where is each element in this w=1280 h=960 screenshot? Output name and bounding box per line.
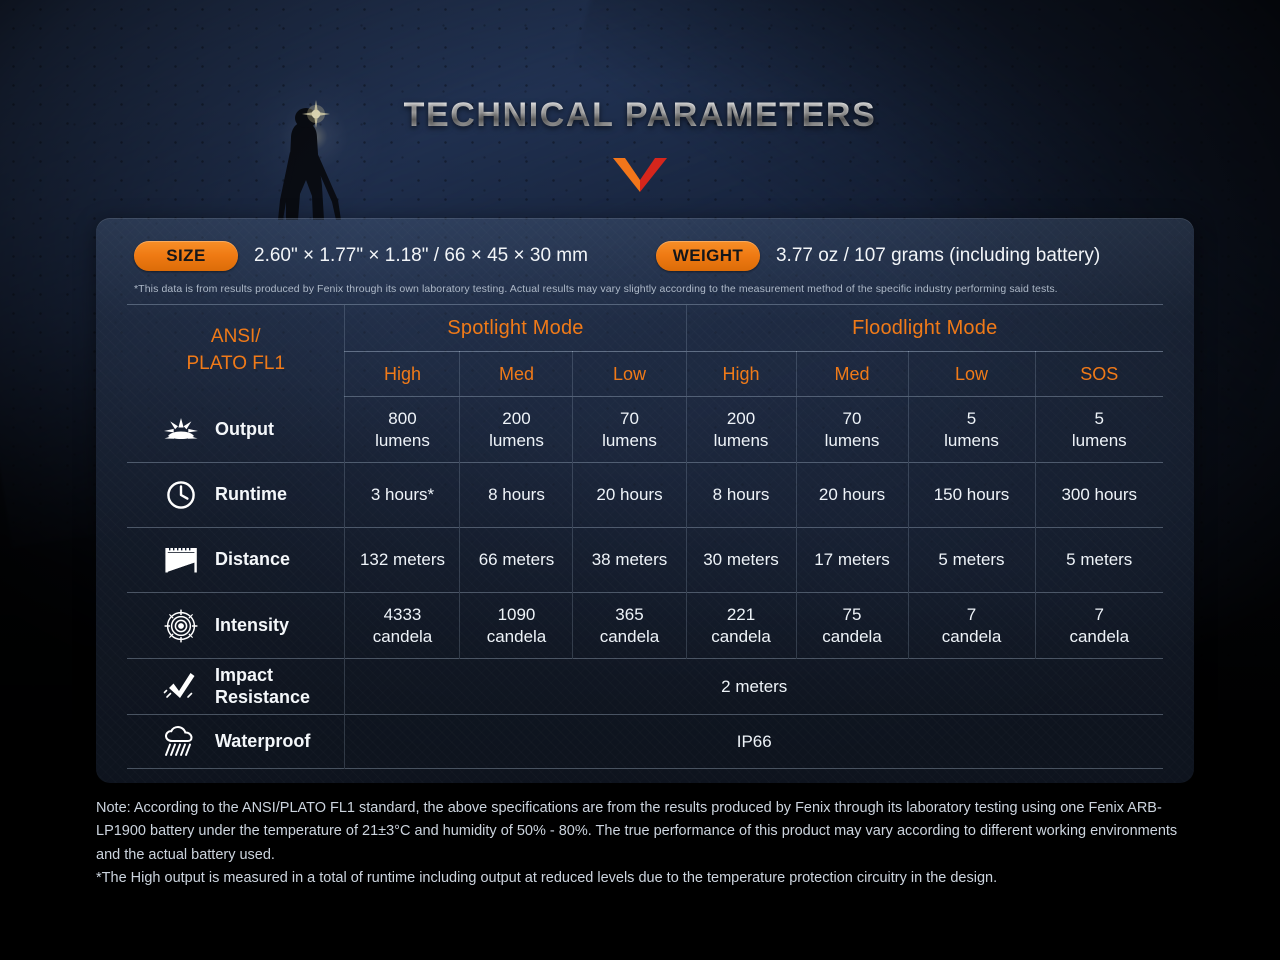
row-label-text: Output — [215, 419, 274, 440]
cell-distance-spot-high: 132 meters — [345, 528, 460, 593]
cell-intensity-spot-med: 1090 candela — [460, 593, 573, 659]
row-label-intensity: Intensity — [127, 593, 345, 659]
cell-intensity-spot-high: 4333 candela — [345, 593, 460, 659]
level-spot-low: Low — [573, 352, 686, 397]
sunburst-icon — [161, 412, 201, 446]
cell-runtime-spot-high: 3 hours* — [345, 463, 460, 528]
row-label-text: Distance — [215, 549, 290, 570]
table-row: Intensity 4333 candela 1090 candela 365 … — [127, 593, 1163, 659]
cell-output-flood-med: 70 lumens — [796, 397, 908, 463]
level-spot-med: Med — [460, 352, 573, 397]
target-icon — [161, 609, 201, 643]
table-header-mode-row: ANSI/ PLATO FL1 Spotlight Mode Floodligh… — [127, 305, 1163, 352]
cell-runtime-flood-low: 150 hours — [908, 463, 1035, 528]
footer-note-line-2: *The High output is measured in a total … — [96, 867, 1192, 890]
cell-distance-flood-high: 30 meters — [686, 528, 796, 593]
level-flood-med: Med — [796, 352, 908, 397]
chevron-down-icon — [613, 158, 667, 192]
cell-runtime-flood-sos: 300 hours — [1035, 463, 1163, 528]
table-row: Distance 132 meters 66 meters 38 meters … — [127, 528, 1163, 593]
row-label-text: Waterproof — [215, 731, 310, 752]
footer-note-line-1: Note: According to the ANSI/PLATO FL1 st… — [96, 797, 1192, 867]
cell-waterproof-value: IP66 — [345, 715, 1163, 769]
row-label-waterproof: Waterproof — [127, 715, 345, 769]
level-flood-low: Low — [908, 352, 1035, 397]
cell-distance-flood-med: 17 meters — [796, 528, 908, 593]
size-value: 2.60" × 1.77" × 1.18" / 66 × 45 × 30 mm — [254, 245, 588, 267]
floodlight-mode-header: Floodlight Mode — [686, 305, 1163, 352]
cell-runtime-flood-high: 8 hours — [686, 463, 796, 528]
weight-badge: WEIGHT — [656, 241, 760, 271]
cell-output-flood-sos: 5 lumens — [1035, 397, 1163, 463]
row-label-impact-resistance: Impact Resistance — [127, 659, 345, 715]
ansi-plato-label: ANSI/ PLATO FL1 — [127, 305, 345, 397]
specifications-table: ANSI/ PLATO FL1 Spotlight Mode Floodligh… — [127, 304, 1163, 769]
weight-value: 3.77 oz / 107 grams (including battery) — [776, 245, 1100, 267]
table-row: Impact Resistance 2 meters — [127, 659, 1163, 715]
cell-output-flood-low: 5 lumens — [908, 397, 1035, 463]
cell-runtime-spot-med: 8 hours — [460, 463, 573, 528]
impact-check-icon — [161, 670, 201, 704]
size-weight-row: SIZE 2.60" × 1.77" × 1.18" / 66 × 45 × 3… — [96, 218, 1194, 274]
technical-parameters-page: TECHNICAL PARAMETERS SIZE 2.60" × 1.77" … — [0, 0, 1280, 960]
row-label-text: Intensity — [215, 615, 289, 636]
cell-distance-spot-low: 38 meters — [573, 528, 686, 593]
row-label-text: Runtime — [215, 484, 287, 505]
cell-impact-resistance-value: 2 meters — [345, 659, 1163, 715]
cell-intensity-flood-high: 221 candela — [686, 593, 796, 659]
table-row: Runtime 3 hours* 8 hours 20 hours 8 hour… — [127, 463, 1163, 528]
row-label-runtime: Runtime — [127, 463, 345, 528]
lab-testing-disclaimer: *This data is from results produced by F… — [134, 283, 1194, 295]
chevron-container — [0, 158, 1280, 197]
cell-distance-flood-sos: 5 meters — [1035, 528, 1163, 593]
cell-output-flood-high: 200 lumens — [686, 397, 796, 463]
row-label-text: Impact Resistance — [215, 665, 310, 707]
cell-distance-flood-low: 5 meters — [908, 528, 1035, 593]
cell-output-spot-med: 200 lumens — [460, 397, 573, 463]
cell-runtime-spot-low: 20 hours — [573, 463, 686, 528]
page-title: TECHNICAL PARAMETERS — [404, 96, 877, 135]
beam-distance-icon — [161, 543, 201, 577]
page-title-container: TECHNICAL PARAMETERS — [0, 96, 1280, 135]
clock-icon — [161, 478, 201, 512]
cell-intensity-spot-low: 365 candela — [573, 593, 686, 659]
level-flood-high: High — [686, 352, 796, 397]
cell-output-spot-high: 800 lumens — [345, 397, 460, 463]
table-row: Waterproof IP66 — [127, 715, 1163, 769]
spec-panel: SIZE 2.60" × 1.77" × 1.18" / 66 × 45 × 3… — [96, 218, 1194, 783]
row-label-distance: Distance — [127, 528, 345, 593]
cell-intensity-flood-low: 7 candela — [908, 593, 1035, 659]
level-spot-high: High — [345, 352, 460, 397]
size-badge: SIZE — [134, 241, 238, 271]
cell-runtime-flood-med: 20 hours — [796, 463, 908, 528]
level-flood-sos: SOS — [1035, 352, 1163, 397]
footer-note: Note: According to the ANSI/PLATO FL1 st… — [96, 797, 1192, 891]
cell-intensity-flood-sos: 7 candela — [1035, 593, 1163, 659]
cell-output-spot-low: 70 lumens — [573, 397, 686, 463]
cell-distance-spot-med: 66 meters — [460, 528, 573, 593]
row-label-output: Output — [127, 397, 345, 463]
spotlight-mode-header: Spotlight Mode — [345, 305, 686, 352]
rain-cloud-icon — [161, 725, 201, 759]
table-row: Output 800 lumens 200 lumens 70 lumens 2… — [127, 397, 1163, 463]
cell-intensity-flood-med: 75 candela — [796, 593, 908, 659]
